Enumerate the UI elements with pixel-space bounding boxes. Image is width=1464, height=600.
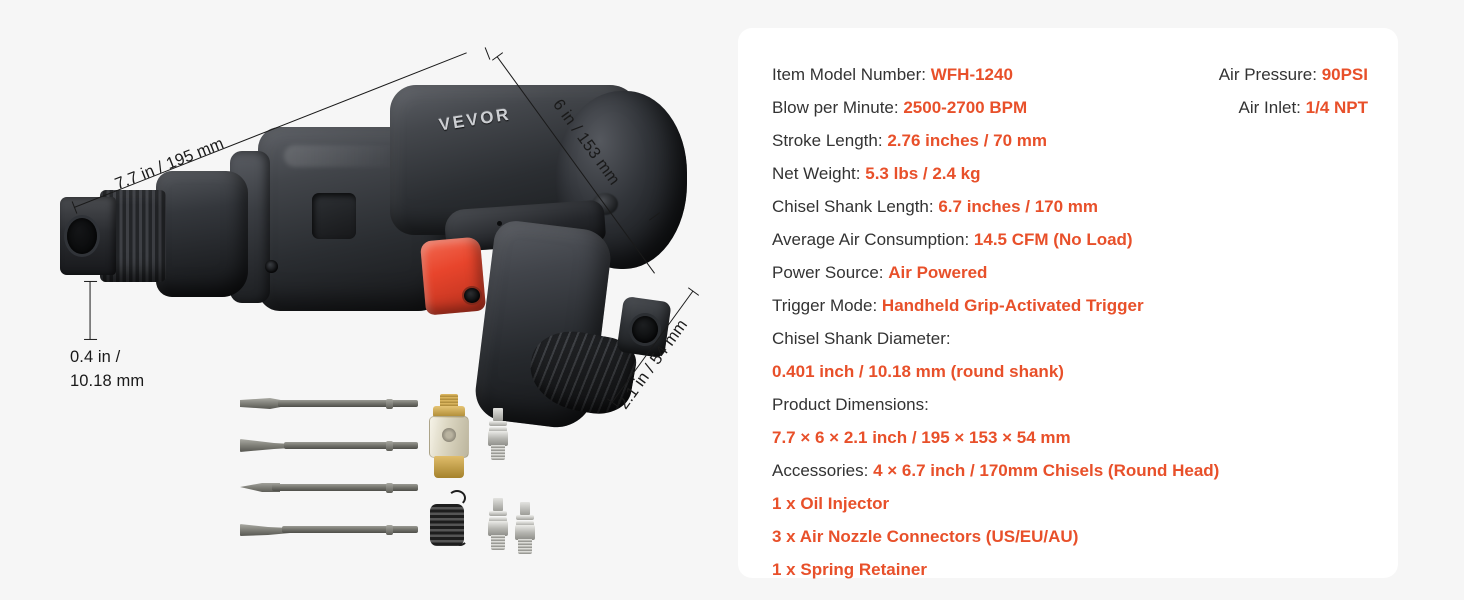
spec-key: Power Source: (772, 263, 888, 282)
spec-row-air-nozzle-connectors: 3 x Air Nozzle Connectors (US/EU/AU) (772, 520, 1192, 553)
nozzle-ring (489, 421, 507, 426)
accessories-illustration (232, 390, 532, 560)
red-throttle-trigger[interactable] (420, 237, 486, 316)
spec-value: 4 × 6.7 inch / 170mm Chisels (Round Head… (873, 461, 1219, 480)
spec-value: 90PSI (1322, 65, 1368, 84)
nozzle-hex-body (515, 525, 535, 540)
barrel-vent (312, 193, 356, 239)
spec-row-shank-length: Chisel Shank Length: 6.7 inches / 170 mm (772, 190, 1192, 223)
spec-row-air-inlet: Air Inlet: 1/4 NPT (1219, 91, 1368, 124)
product-spec-page: VEVOR 7.7 in / 195 mm 6 in / 153 mm 2.1 … (0, 0, 1464, 600)
spec-list-secondary: Air Pressure: 90PSI Air Inlet: 1/4 NPT (1219, 58, 1368, 124)
chisel-shaft (272, 484, 418, 491)
spec-row-net-weight: Net Weight: 5.3 lbs / 2.4 kg (772, 157, 1192, 190)
dimension-label-bore-line1: 0.4 in / (70, 348, 120, 367)
spec-key: Stroke Length: (772, 131, 887, 150)
v-cut-chisel (240, 440, 418, 451)
air-hammer-illustration: VEVOR (60, 85, 710, 415)
nozzle-thread (491, 535, 505, 550)
dimension-cap-bore-top (84, 281, 97, 282)
specification-panel: Item Model Number: WFH-1240 Blow per Min… (738, 28, 1398, 578)
spec-row-trigger-mode: Trigger Mode: Handheld Grip-Activated Tr… (772, 289, 1192, 322)
chisel-shaft (284, 442, 418, 449)
chisel-collar (386, 399, 393, 409)
spec-key: Air Inlet: (1239, 98, 1306, 117)
spec-row-shank-diameter-value: 0.401 inch / 10.18 mm (round shank) (772, 355, 1192, 388)
spec-list-primary: Item Model Number: WFH-1240 Blow per Min… (772, 58, 1192, 586)
spec-value: 14.5 CFM (No Load) (974, 230, 1133, 249)
tool-nose-cone (156, 171, 248, 297)
spec-value: WFH-1240 (931, 65, 1013, 84)
chisel-bore (67, 218, 97, 254)
spec-row-product-dimensions-label: Product Dimensions: (772, 388, 1192, 421)
spec-row-shank-diameter-label: Chisel Shank Diameter: (772, 322, 1192, 355)
spec-key: Product Dimensions: (772, 395, 929, 414)
oil-injector (428, 394, 470, 480)
wide-flat-chisel (240, 524, 418, 535)
spec-value: 2500-2700 BPM (903, 98, 1027, 117)
spec-key: Blow per Minute: (772, 98, 903, 117)
dimension-line-bore (89, 282, 90, 340)
flat-chisel (240, 398, 418, 409)
spec-row-model: Item Model Number: WFH-1240 (772, 58, 1192, 91)
spring-coil (430, 504, 464, 546)
nozzle-tip (493, 408, 503, 421)
nozzle-hex-body (488, 521, 508, 536)
chisel-collar (386, 525, 393, 535)
chisel-shaft (282, 526, 418, 533)
spec-key: Accessories: (772, 461, 873, 480)
spec-row-power-source: Power Source: Air Powered (772, 256, 1192, 289)
spec-key: Item Model Number: (772, 65, 931, 84)
air-nozzle-connector-3 (514, 502, 536, 554)
air-nozzle-connector-1 (487, 408, 509, 460)
chisel-collar (386, 483, 393, 493)
spec-row-bpm: Blow per Minute: 2500-2700 BPM (772, 91, 1192, 124)
spec-row-spring-retainer: 1 x Spring Retainer (772, 553, 1192, 586)
point-chisel (240, 482, 418, 493)
spec-row-product-dimensions-value: 7.7 × 6 × 2.1 inch / 195 × 153 × 54 mm (772, 421, 1192, 454)
chisel-collar (386, 441, 393, 451)
spec-row-air-pressure: Air Pressure: 90PSI (1219, 58, 1368, 91)
nozzle-ring (489, 511, 507, 516)
spec-value: 6.7 inches / 170 mm (938, 197, 1098, 216)
spec-key: Trigger Mode: (772, 296, 882, 315)
spec-key: Chisel Shank Diameter: (772, 329, 951, 348)
dimension-cap-length-end (485, 47, 491, 59)
spec-value: 5.3 lbs / 2.4 kg (865, 164, 980, 183)
side-screw (265, 260, 278, 273)
spec-value: 2.76 inches / 70 mm (887, 131, 1047, 150)
spec-row-stroke-length: Stroke Length: 2.76 inches / 70 mm (772, 124, 1192, 157)
throttle-port (464, 288, 480, 303)
spec-key: Net Weight: (772, 164, 865, 183)
spring-retainer (428, 490, 474, 548)
spec-value: 1/4 NPT (1306, 98, 1368, 117)
product-image-area: VEVOR 7.7 in / 195 mm 6 in / 153 mm 2.1 … (0, 0, 730, 600)
nozzle-tip (520, 502, 530, 515)
nozzle-thread (518, 539, 532, 554)
oiler-brass-base (434, 456, 464, 478)
spec-row-oil-injector: 1 x Oil Injector (772, 487, 1192, 520)
nozzle-ring (516, 515, 534, 520)
spec-key: Air Pressure: (1219, 65, 1322, 84)
dimension-label-bore-line2: 10.18 mm (70, 372, 144, 391)
spec-key: Chisel Shank Length: (772, 197, 938, 216)
spec-key: Average Air Consumption: (772, 230, 974, 249)
nozzle-thread (491, 445, 505, 460)
nozzle-hex-body (488, 431, 508, 446)
oiler-internal-gear (442, 428, 456, 442)
spec-value: Air Powered (888, 263, 987, 282)
nozzle-tip (493, 498, 503, 511)
barrel-highlight (284, 145, 404, 167)
air-nozzle-connector-2 (487, 498, 509, 550)
spec-value: Handheld Grip-Activated Trigger (882, 296, 1144, 315)
spec-row-accessories: Accessories: 4 × 6.7 inch / 170mm Chisel… (772, 454, 1192, 487)
spec-row-air-consumption: Average Air Consumption: 14.5 CFM (No Lo… (772, 223, 1192, 256)
dimension-cap-bore-bottom (84, 339, 97, 340)
chisel-shaft (278, 400, 418, 407)
